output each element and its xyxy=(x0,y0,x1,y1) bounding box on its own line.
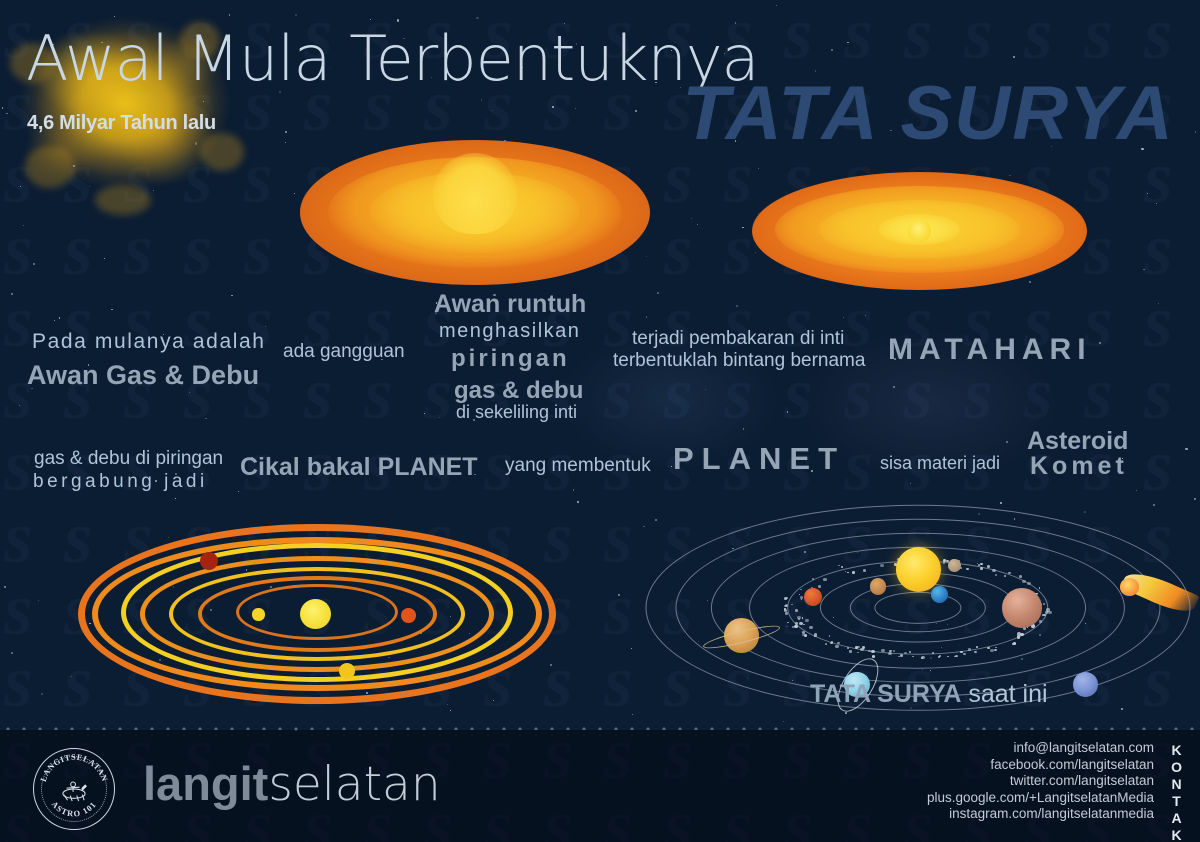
planetesimal-disk-illustration xyxy=(78,520,556,708)
kontak-letter: O xyxy=(1171,759,1184,776)
star xyxy=(671,466,672,467)
watermark-letter: s xyxy=(120,216,180,288)
watermark-letter: s xyxy=(180,216,240,288)
star xyxy=(11,293,13,295)
watermark-letter: s xyxy=(1140,0,1200,72)
star xyxy=(23,225,24,226)
asteroid xyxy=(912,656,914,657)
stage3-caption-line5: di sekeliling inti xyxy=(456,402,577,423)
stage5-caption-line1: gas & debu di piringan xyxy=(34,448,223,470)
watermark-letter: s xyxy=(0,576,60,648)
brand-bold: langit xyxy=(143,757,268,810)
star xyxy=(1006,441,1008,443)
asteroid xyxy=(994,649,997,652)
asteroid xyxy=(1027,582,1031,585)
asteroid xyxy=(825,643,827,645)
star xyxy=(19,405,20,406)
asteroid xyxy=(968,648,971,651)
comet-head xyxy=(1120,578,1139,595)
earth xyxy=(931,586,948,603)
page-subtitle: 4,6 Milyar Tahun lalu xyxy=(27,112,216,135)
watermark-letter: s xyxy=(660,216,720,288)
star xyxy=(71,676,72,677)
planetesimal-yellow xyxy=(339,663,355,679)
asteroid xyxy=(893,650,895,652)
asteroid xyxy=(800,589,802,590)
asteroid xyxy=(852,571,855,574)
contact-line[interactable]: twitter.com/langitselatan xyxy=(927,773,1154,790)
asteroid xyxy=(1019,575,1023,578)
stage2-caption: ada gangguan xyxy=(283,341,405,363)
asteroid xyxy=(847,647,849,649)
star xyxy=(552,106,554,108)
star xyxy=(481,99,482,100)
star xyxy=(11,652,13,654)
star xyxy=(1143,269,1144,270)
stage3-caption-line2: menghasilkan xyxy=(439,320,580,343)
star xyxy=(847,42,849,44)
watermark-letter: s xyxy=(1020,0,1080,72)
star xyxy=(831,49,833,51)
asteroid xyxy=(831,641,833,643)
star xyxy=(104,258,105,259)
kontak-letter: T xyxy=(1171,793,1184,810)
asteroid xyxy=(800,596,803,598)
asteroid xyxy=(847,572,848,573)
star xyxy=(54,320,55,321)
protoplanetary-disk-with-sun-illustration xyxy=(752,172,1087,290)
star xyxy=(294,193,295,194)
jupiter xyxy=(1002,588,1042,628)
stage4-caption-line2: terbentuklah bintang bernama xyxy=(613,350,865,372)
watermark-letter: s xyxy=(900,360,960,432)
asteroid xyxy=(849,650,852,652)
stage9-caption: sisa materi jadi xyxy=(880,453,1000,474)
infographic-poster: ssssssssssssssssssssssssssssssssssssssss… xyxy=(0,0,1200,842)
watermark-letter: s xyxy=(1020,360,1080,432)
contact-line[interactable]: facebook.com/langitselatan xyxy=(927,757,1154,774)
mercury xyxy=(948,559,961,571)
watermark-letter: s xyxy=(1140,216,1200,288)
contact-line[interactable]: info@langitselatan.com xyxy=(927,740,1154,757)
asteroid xyxy=(963,653,966,656)
asteroid xyxy=(939,655,941,657)
watermark-letter: s xyxy=(60,216,120,288)
asteroid xyxy=(845,571,847,572)
star xyxy=(618,594,620,596)
asteroid xyxy=(814,635,815,636)
asteroid xyxy=(966,568,968,570)
asteroid xyxy=(872,655,875,658)
star xyxy=(265,326,266,327)
asteroid xyxy=(797,616,800,619)
asteroid xyxy=(829,635,831,636)
stage10-caption-line2: Komet xyxy=(1030,452,1128,481)
asteroid xyxy=(1043,603,1045,605)
stage8-caption-planet: PLANET xyxy=(673,441,845,477)
watermark-letter: s xyxy=(1080,216,1140,288)
star xyxy=(38,600,39,601)
star xyxy=(476,17,478,19)
stage7-caption: yang membentuk xyxy=(505,455,651,477)
asteroid xyxy=(932,652,935,654)
asteroid xyxy=(857,652,859,654)
asteroid xyxy=(794,625,798,628)
asteroid xyxy=(795,622,798,624)
neptune xyxy=(1073,672,1098,697)
star xyxy=(1185,448,1187,450)
asteroid xyxy=(921,657,923,659)
star xyxy=(1195,131,1196,132)
star xyxy=(1099,342,1101,344)
star xyxy=(450,710,451,711)
watermark-letter: s xyxy=(360,360,420,432)
star xyxy=(4,586,6,588)
star xyxy=(787,411,789,413)
asteroid xyxy=(1022,580,1025,583)
star xyxy=(758,168,759,169)
star xyxy=(631,648,632,649)
asteroid xyxy=(868,650,871,652)
star xyxy=(1147,193,1148,194)
asteroid xyxy=(784,609,787,612)
watermark-letter: s xyxy=(1140,432,1200,504)
asteroid xyxy=(960,567,962,568)
asteroid xyxy=(818,585,821,588)
watermark-letter: s xyxy=(0,648,60,720)
stage3-caption-line4: gas & debu xyxy=(454,377,583,405)
seal-text: LANGITSELATAN ASTRO 101 xyxy=(34,749,114,829)
asteroid xyxy=(980,563,983,565)
star xyxy=(697,224,698,225)
watermark-letter: s xyxy=(240,216,300,288)
asteroid xyxy=(809,626,812,629)
asteroid xyxy=(1020,633,1024,636)
asteroid xyxy=(992,569,996,572)
star xyxy=(205,418,206,419)
star xyxy=(910,483,911,484)
star xyxy=(742,227,744,229)
asteroid xyxy=(812,578,814,580)
asteroid xyxy=(1017,635,1021,638)
asteroid xyxy=(880,564,884,567)
stage4-caption-line1: terjadi pembakaran di inti xyxy=(632,328,844,350)
asteroid xyxy=(909,651,911,653)
asteroid xyxy=(803,624,805,625)
star xyxy=(189,392,190,393)
asteroid xyxy=(954,656,956,658)
asteroid xyxy=(987,565,990,568)
asteroid xyxy=(799,622,803,625)
asteroid xyxy=(805,619,809,622)
asteroid xyxy=(841,566,843,567)
star xyxy=(1194,498,1196,500)
watermark-letter: s xyxy=(1080,360,1140,432)
star xyxy=(439,417,440,418)
solar-system-diagram-caption: TATA SURYA saat ini xyxy=(810,680,1048,709)
asteroid xyxy=(802,617,804,618)
star xyxy=(59,317,60,318)
star xyxy=(1136,490,1137,491)
star xyxy=(691,218,692,219)
stage6-caption: Cikal bakal PLANET xyxy=(240,453,478,482)
diagram-caption-light: saat ini xyxy=(961,680,1047,708)
asteroid xyxy=(1039,587,1041,588)
diagram-caption-bold: TATA SURYA xyxy=(810,680,961,708)
asteroid xyxy=(863,569,866,572)
brand-thin: selatan xyxy=(268,757,440,812)
watermark-letter: s xyxy=(0,216,60,288)
asteroid xyxy=(987,647,989,649)
watermark-letter: s xyxy=(960,360,1020,432)
asteroid xyxy=(947,656,948,657)
big-title: TATA SURYA xyxy=(682,70,1175,157)
watermark-letter: s xyxy=(0,504,60,576)
asteroid xyxy=(980,567,983,570)
kontak-letter: A xyxy=(1171,810,1184,827)
asteroid xyxy=(943,559,946,561)
contact-line[interactable]: plus.google.com/+LangitselatanMedia xyxy=(927,790,1154,807)
star xyxy=(783,721,784,722)
star xyxy=(865,315,866,316)
watermark-letter: s xyxy=(1140,288,1200,360)
asteroid xyxy=(1042,614,1046,617)
watermark-letter: s xyxy=(300,360,360,432)
asteroid xyxy=(888,652,892,655)
brand-wordmark: langitselatan xyxy=(143,760,441,808)
star xyxy=(285,142,286,143)
planetesimal-small-yellow xyxy=(252,608,264,620)
star xyxy=(893,386,895,388)
star xyxy=(492,110,493,111)
asteroid xyxy=(795,609,798,611)
star xyxy=(736,305,738,307)
star xyxy=(424,413,425,414)
watermark-letter: s xyxy=(1140,360,1200,432)
stage5-caption-line2: bergabung jadi xyxy=(33,471,208,493)
contact-list: info@langitselatan.comfacebook.com/langi… xyxy=(927,740,1154,823)
seal-horse-rider-icon xyxy=(63,782,87,801)
mars xyxy=(804,588,822,606)
star xyxy=(657,292,659,294)
contact-line[interactable]: instagram.com/langitselatanmedia xyxy=(927,806,1154,823)
collapsing-cloud-disk-illustration xyxy=(300,140,650,285)
asteroid xyxy=(900,654,903,657)
asteroid xyxy=(976,646,978,648)
asteroid xyxy=(974,651,977,653)
star xyxy=(1013,56,1015,58)
page-title: Awal Mula Terbentuknya xyxy=(26,22,759,95)
star xyxy=(33,263,35,265)
star xyxy=(743,428,745,430)
asteroid xyxy=(787,622,789,623)
watermark-letter: s xyxy=(1080,0,1140,72)
asteroid xyxy=(823,578,826,581)
asteroid xyxy=(1039,620,1042,623)
asteroid xyxy=(837,642,839,644)
stage3-caption-line1: Awan runtuh xyxy=(434,290,586,319)
asteroid xyxy=(995,574,998,576)
asteroid xyxy=(871,650,875,653)
stage1-caption-line1: Pada mulanya adalah xyxy=(32,330,266,354)
asteroid xyxy=(860,648,864,651)
asteroid xyxy=(785,612,788,614)
asteroid xyxy=(804,634,807,637)
star xyxy=(231,295,232,296)
stage3-caption-line3: piringan xyxy=(451,345,570,373)
asteroid xyxy=(1012,643,1014,645)
asteroid xyxy=(835,645,839,648)
asteroid xyxy=(889,650,892,652)
stage4-caption-matahari: MATAHARI xyxy=(888,333,1092,367)
asteroid xyxy=(799,594,801,596)
svg-text:LANGITSELATAN: LANGITSELATAN xyxy=(39,753,110,783)
star xyxy=(238,491,239,492)
watermark-letter: s xyxy=(840,0,900,72)
watermark-letter: s xyxy=(960,0,1020,72)
star xyxy=(575,108,576,109)
star xyxy=(285,131,287,133)
asteroid xyxy=(904,652,907,655)
star xyxy=(705,389,706,390)
star xyxy=(843,317,844,318)
asteroid xyxy=(791,604,793,606)
stage1-caption-line2: Awan Gas & Debu xyxy=(27,360,259,391)
star xyxy=(577,501,579,503)
langitselatan-seal-logo: LANGITSELATAN ASTRO 101 xyxy=(33,748,115,830)
asteroid xyxy=(943,562,946,564)
star xyxy=(41,693,43,695)
asteroid xyxy=(990,649,994,652)
asteroid xyxy=(1008,572,1011,574)
svg-text:ASTRO 101: ASTRO 101 xyxy=(50,800,99,819)
asteroid xyxy=(881,649,885,652)
planetesimal-red xyxy=(200,552,218,570)
star xyxy=(635,110,637,112)
kontak-letter: K xyxy=(1171,742,1184,759)
star xyxy=(632,714,633,715)
kontak-vertical-label: KONTAK xyxy=(1171,742,1184,842)
asteroid xyxy=(786,597,788,599)
asteroid xyxy=(1004,575,1007,577)
asteroid xyxy=(1046,608,1050,611)
watermark-letter: s xyxy=(780,0,840,72)
star xyxy=(370,19,371,20)
star xyxy=(1156,203,1157,204)
star xyxy=(175,498,176,499)
asteroid xyxy=(855,646,859,649)
kontak-letter: K xyxy=(1171,827,1184,842)
star xyxy=(295,14,297,16)
watermark-letter: s xyxy=(900,0,960,72)
asteroid xyxy=(978,564,980,566)
asteroid xyxy=(995,647,997,648)
star xyxy=(573,489,575,491)
star xyxy=(776,5,777,6)
star xyxy=(646,316,648,318)
kontak-letter: N xyxy=(1171,776,1184,793)
star xyxy=(1158,303,1159,304)
star xyxy=(111,309,112,310)
